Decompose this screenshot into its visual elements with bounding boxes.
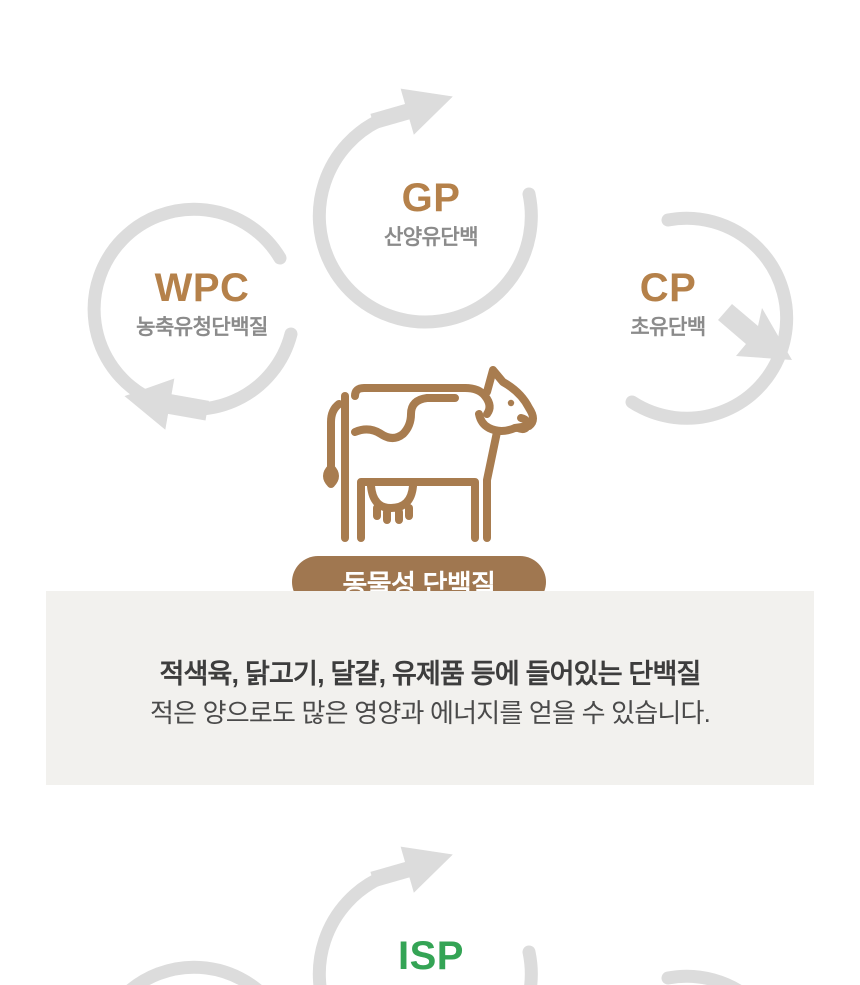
cow-icon-wrapper bbox=[315, 362, 550, 552]
ring-gp bbox=[303, 104, 559, 360]
circular-arrow-icon bbox=[78, 196, 326, 444]
cow-icon bbox=[315, 362, 550, 552]
infographic-page: 맞춤 밸런스 WPC 농축유청단백질 GP 산양유단백 CP 초유단백 bbox=[0, 0, 860, 985]
ring-bottom-right bbox=[540, 954, 788, 985]
circular-arrow-icon bbox=[303, 862, 559, 985]
page-title: 맞춤 밸런스 bbox=[0, 0, 860, 3]
circular-arrow-icon bbox=[540, 196, 788, 444]
circular-arrow-icon bbox=[78, 954, 326, 985]
description-text: 적색육, 닭고기, 달걀, 유제품 등에 들어있는 단백질 적은 양으로도 많은… bbox=[46, 655, 814, 733]
description-line-2: 적은 양으로도 많은 영양과 에너지를 얻을 수 있습니다. bbox=[46, 694, 814, 733]
circular-arrow-icon bbox=[303, 104, 559, 360]
description-line-1: 적색육, 닭고기, 달걀, 유제품 등에 들어있는 단백질 bbox=[46, 655, 814, 694]
ring-wpc bbox=[78, 196, 326, 444]
ring-bottom-left bbox=[78, 954, 326, 985]
ring-isp bbox=[303, 862, 559, 985]
ring-cp bbox=[540, 196, 788, 444]
circular-arrow-icon bbox=[540, 954, 788, 985]
